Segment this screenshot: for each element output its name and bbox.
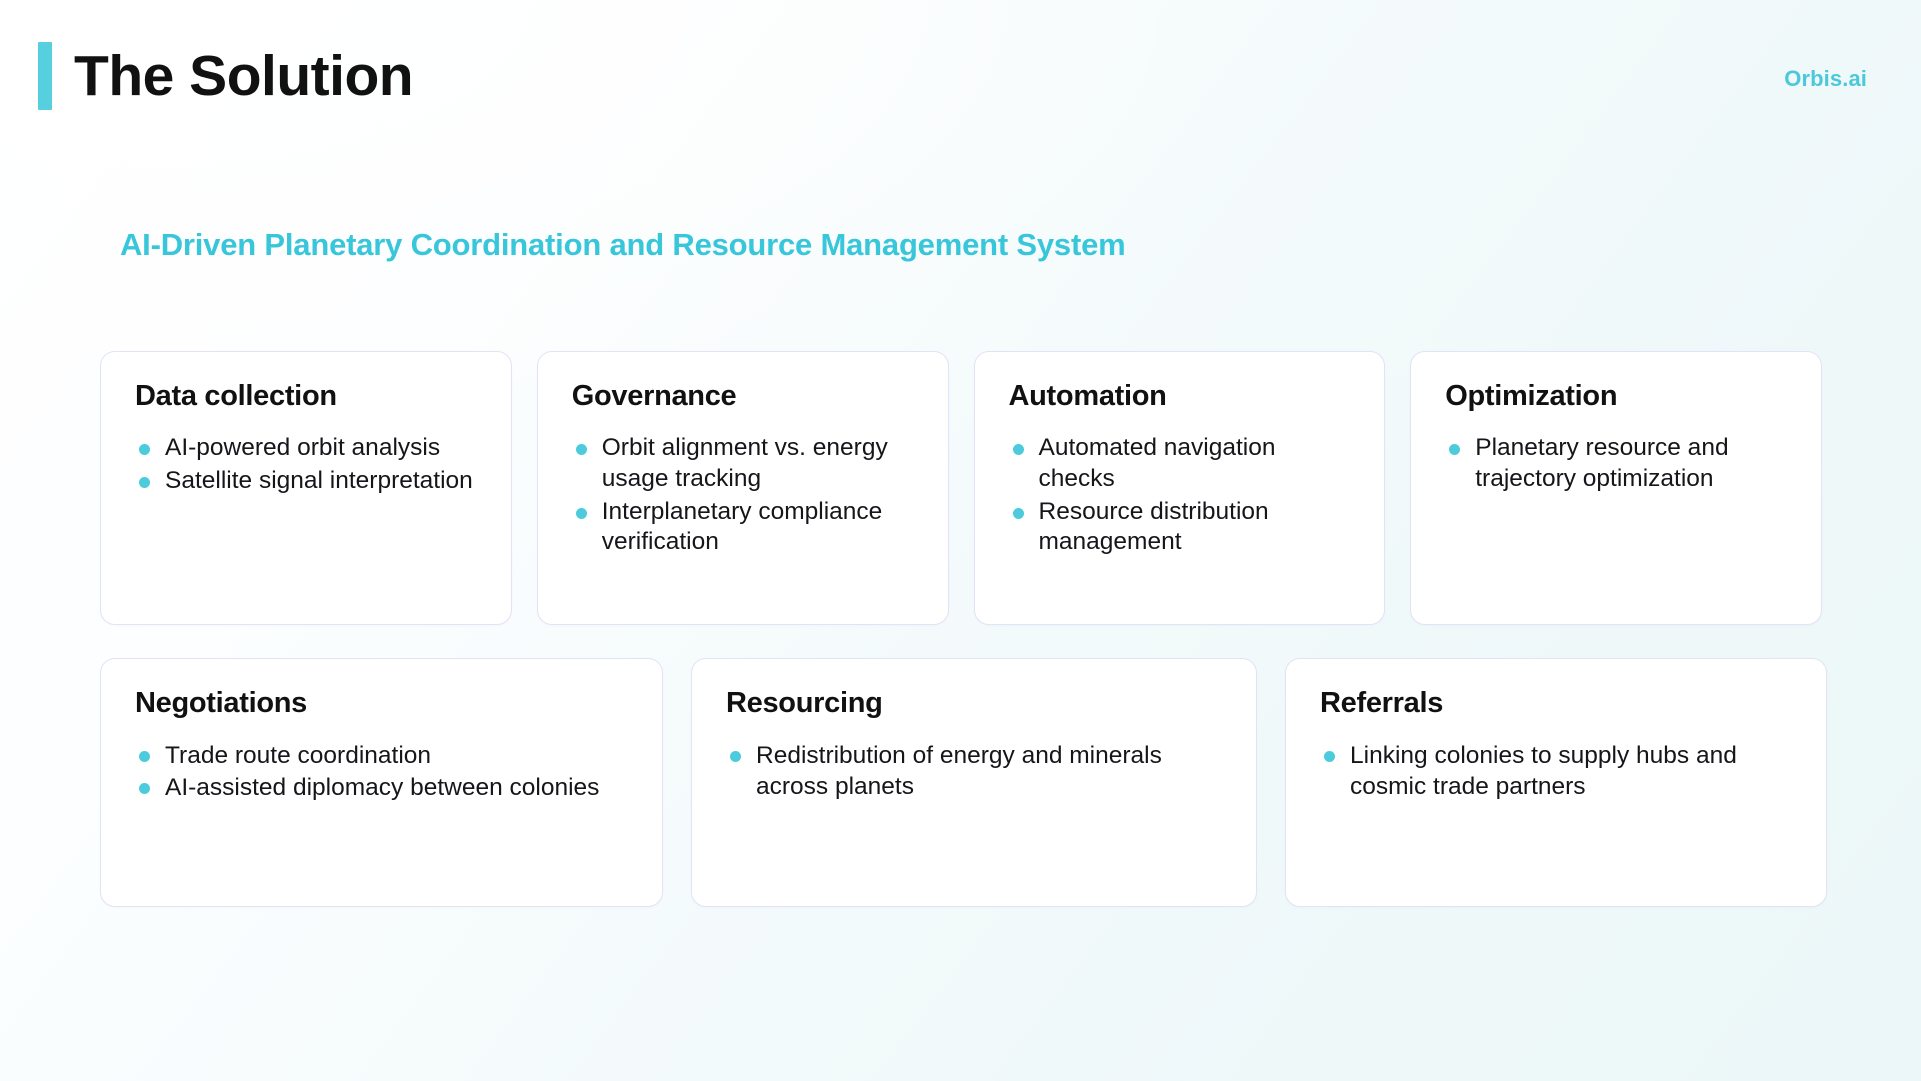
list-item-label: Satellite signal interpretation xyxy=(165,467,473,494)
bullet-list: AI-powered orbit analysis Satellite sign… xyxy=(135,433,481,496)
bullet-list: Automated navigation checks Resource dis… xyxy=(1009,433,1355,558)
list-item-label: Redistribution of energy and minerals ac… xyxy=(756,742,1162,800)
bullet-dot-icon xyxy=(1013,508,1024,519)
list-item: Resource distribution management xyxy=(1009,497,1355,558)
page-title: The Solution xyxy=(74,48,413,105)
bullet-dot-icon xyxy=(576,508,587,519)
card-grid-row-1: Data collection AI-powered orbit analysi… xyxy=(100,351,1822,625)
list-item-label: AI-powered orbit analysis xyxy=(165,434,440,461)
list-item-label: Automated navigation checks xyxy=(1039,434,1276,492)
list-item: Satellite signal interpretation xyxy=(135,466,481,497)
list-item-label: AI-assisted diplomacy between colonies xyxy=(165,774,599,801)
bullet-list: Linking colonies to supply hubs and cosm… xyxy=(1320,740,1796,802)
card-referrals: Referrals Linking colonies to supply hub… xyxy=(1285,658,1827,907)
card-resourcing: Resourcing Redistribution of energy and … xyxy=(691,658,1257,907)
bullet-dot-icon xyxy=(1013,444,1024,455)
bullet-dot-icon xyxy=(1324,751,1335,762)
card-optimization: Optimization Planetary resource and traj… xyxy=(1410,351,1822,625)
card-title: Referrals xyxy=(1320,687,1796,720)
list-item: Orbit alignment vs. energy usage trackin… xyxy=(572,433,918,494)
bullet-dot-icon xyxy=(139,783,150,794)
list-item: Redistribution of energy and minerals ac… xyxy=(726,740,1226,802)
title-group: The Solution xyxy=(38,42,413,110)
bullet-list: Redistribution of energy and minerals ac… xyxy=(726,740,1226,802)
list-item-label: Trade route coordination xyxy=(165,742,431,769)
bullet-dot-icon xyxy=(1449,444,1460,455)
section-heading: AI-Driven Planetary Coordination and Res… xyxy=(120,227,1125,263)
list-item-label: Orbit alignment vs. energy usage trackin… xyxy=(602,434,888,492)
bullet-list: Planetary resource and trajectory optimi… xyxy=(1445,433,1791,494)
brand-logo: Orbis.ai xyxy=(1784,66,1867,92)
accent-bar-icon xyxy=(38,42,52,110)
card-title: Governance xyxy=(572,380,918,413)
card-automation: Automation Automated navigation checks R… xyxy=(974,351,1386,625)
card-title: Resourcing xyxy=(726,687,1226,720)
bullet-list: Trade route coordination AI-assisted dip… xyxy=(135,740,632,803)
list-item: AI-assisted diplomacy between colonies xyxy=(135,772,632,803)
bullet-dot-icon xyxy=(139,751,150,762)
list-item: AI-powered orbit analysis xyxy=(135,433,481,464)
bullet-dot-icon xyxy=(139,444,150,455)
list-item-label: Interplanetary compliance verification xyxy=(602,498,883,556)
list-item: Planetary resource and trajectory optimi… xyxy=(1445,433,1791,494)
list-item-label: Planetary resource and trajectory optimi… xyxy=(1475,434,1728,492)
slide-root: The Solution Orbis.ai AI-Driven Planetar… xyxy=(0,0,1921,1081)
card-title: Automation xyxy=(1009,380,1355,413)
bullet-dot-icon xyxy=(576,444,587,455)
bullet-list: Orbit alignment vs. energy usage trackin… xyxy=(572,433,918,558)
bullet-dot-icon xyxy=(139,477,150,488)
list-item: Interplanetary compliance verification xyxy=(572,497,918,558)
list-item: Linking colonies to supply hubs and cosm… xyxy=(1320,740,1796,802)
card-negotiations: Negotiations Trade route coordination AI… xyxy=(100,658,663,907)
list-item: Automated navigation checks xyxy=(1009,433,1355,494)
bullet-dot-icon xyxy=(730,751,741,762)
card-title: Data collection xyxy=(135,380,481,413)
list-item-label: Linking colonies to supply hubs and cosm… xyxy=(1350,742,1737,800)
card-grid-row-2: Negotiations Trade route coordination AI… xyxy=(100,658,1822,907)
list-item: Trade route coordination xyxy=(135,740,632,771)
card-data-collection: Data collection AI-powered orbit analysi… xyxy=(100,351,512,625)
card-title: Negotiations xyxy=(135,687,632,720)
list-item-label: Resource distribution management xyxy=(1039,498,1269,556)
card-title: Optimization xyxy=(1445,380,1791,413)
slide-header: The Solution Orbis.ai xyxy=(0,0,1921,150)
card-governance: Governance Orbit alignment vs. energy us… xyxy=(537,351,949,625)
